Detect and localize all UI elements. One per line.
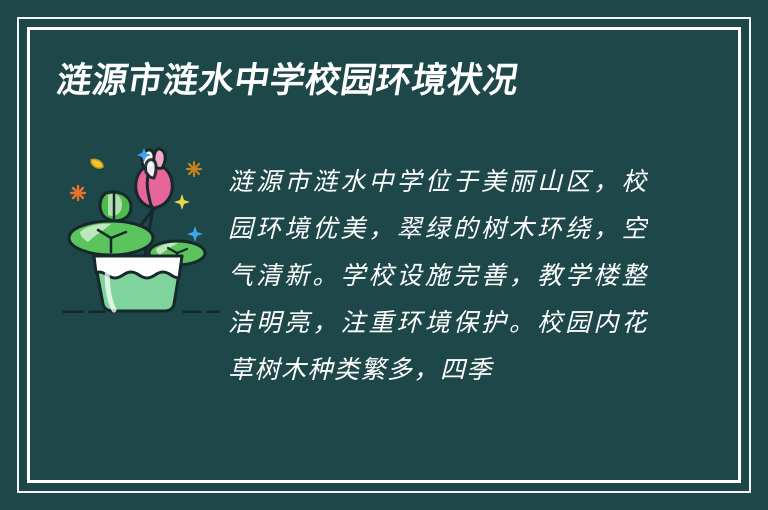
page-title: 涟源市涟水中学校园环境状况 <box>54 60 701 102</box>
body-paragraph: 涟源市涟水中学位于美丽山区，校园环境优美，翠绿的树木环绕，空气清新。学校设施完善… <box>228 158 648 393</box>
poster-canvas: 涟源市涟水中学校园环境状况 <box>0 0 768 510</box>
potted-lotus-illustration <box>58 138 222 313</box>
